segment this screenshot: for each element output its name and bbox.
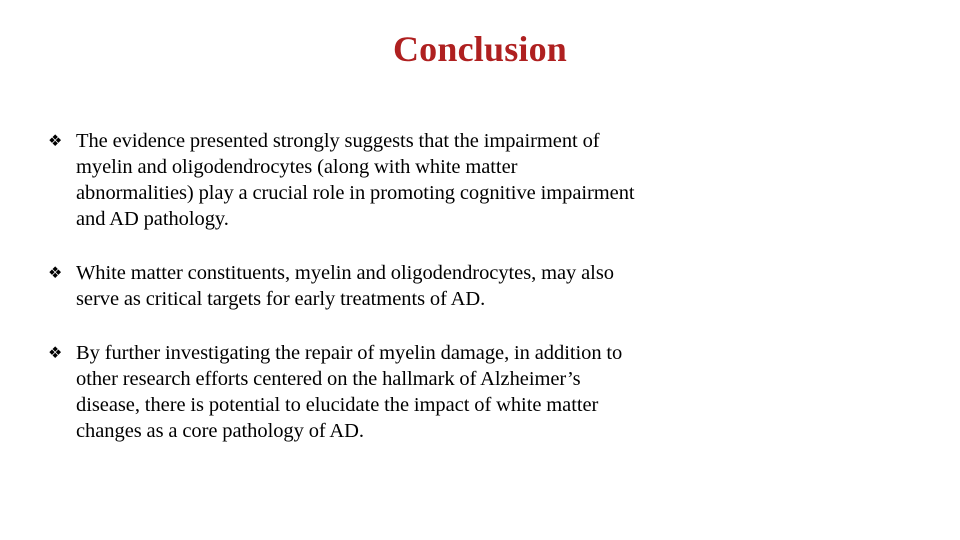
slide-body-content: ❖ The evidence presented strongly sugges… — [46, 128, 926, 444]
floral-diamond-bullet-icon: ❖ — [46, 260, 76, 286]
page-title: Conclusion — [0, 26, 960, 72]
bullet-paragraph-1: The evidence presented strongly suggests… — [76, 128, 926, 232]
bullet-paragraph-2: White matter constituents, myelin and ol… — [76, 260, 926, 312]
presentation-slide: Conclusion ❖ The evidence presented stro… — [0, 0, 960, 540]
bullet-paragraph-3: By further investigating the repair of m… — [76, 340, 926, 444]
floral-diamond-bullet-icon: ❖ — [46, 128, 76, 154]
list-item: ❖ White matter constituents, myelin and … — [46, 260, 926, 312]
list-item: ❖ By further investigating the repair of… — [46, 340, 926, 444]
floral-diamond-bullet-icon: ❖ — [46, 340, 76, 366]
list-item: ❖ The evidence presented strongly sugges… — [46, 128, 926, 232]
